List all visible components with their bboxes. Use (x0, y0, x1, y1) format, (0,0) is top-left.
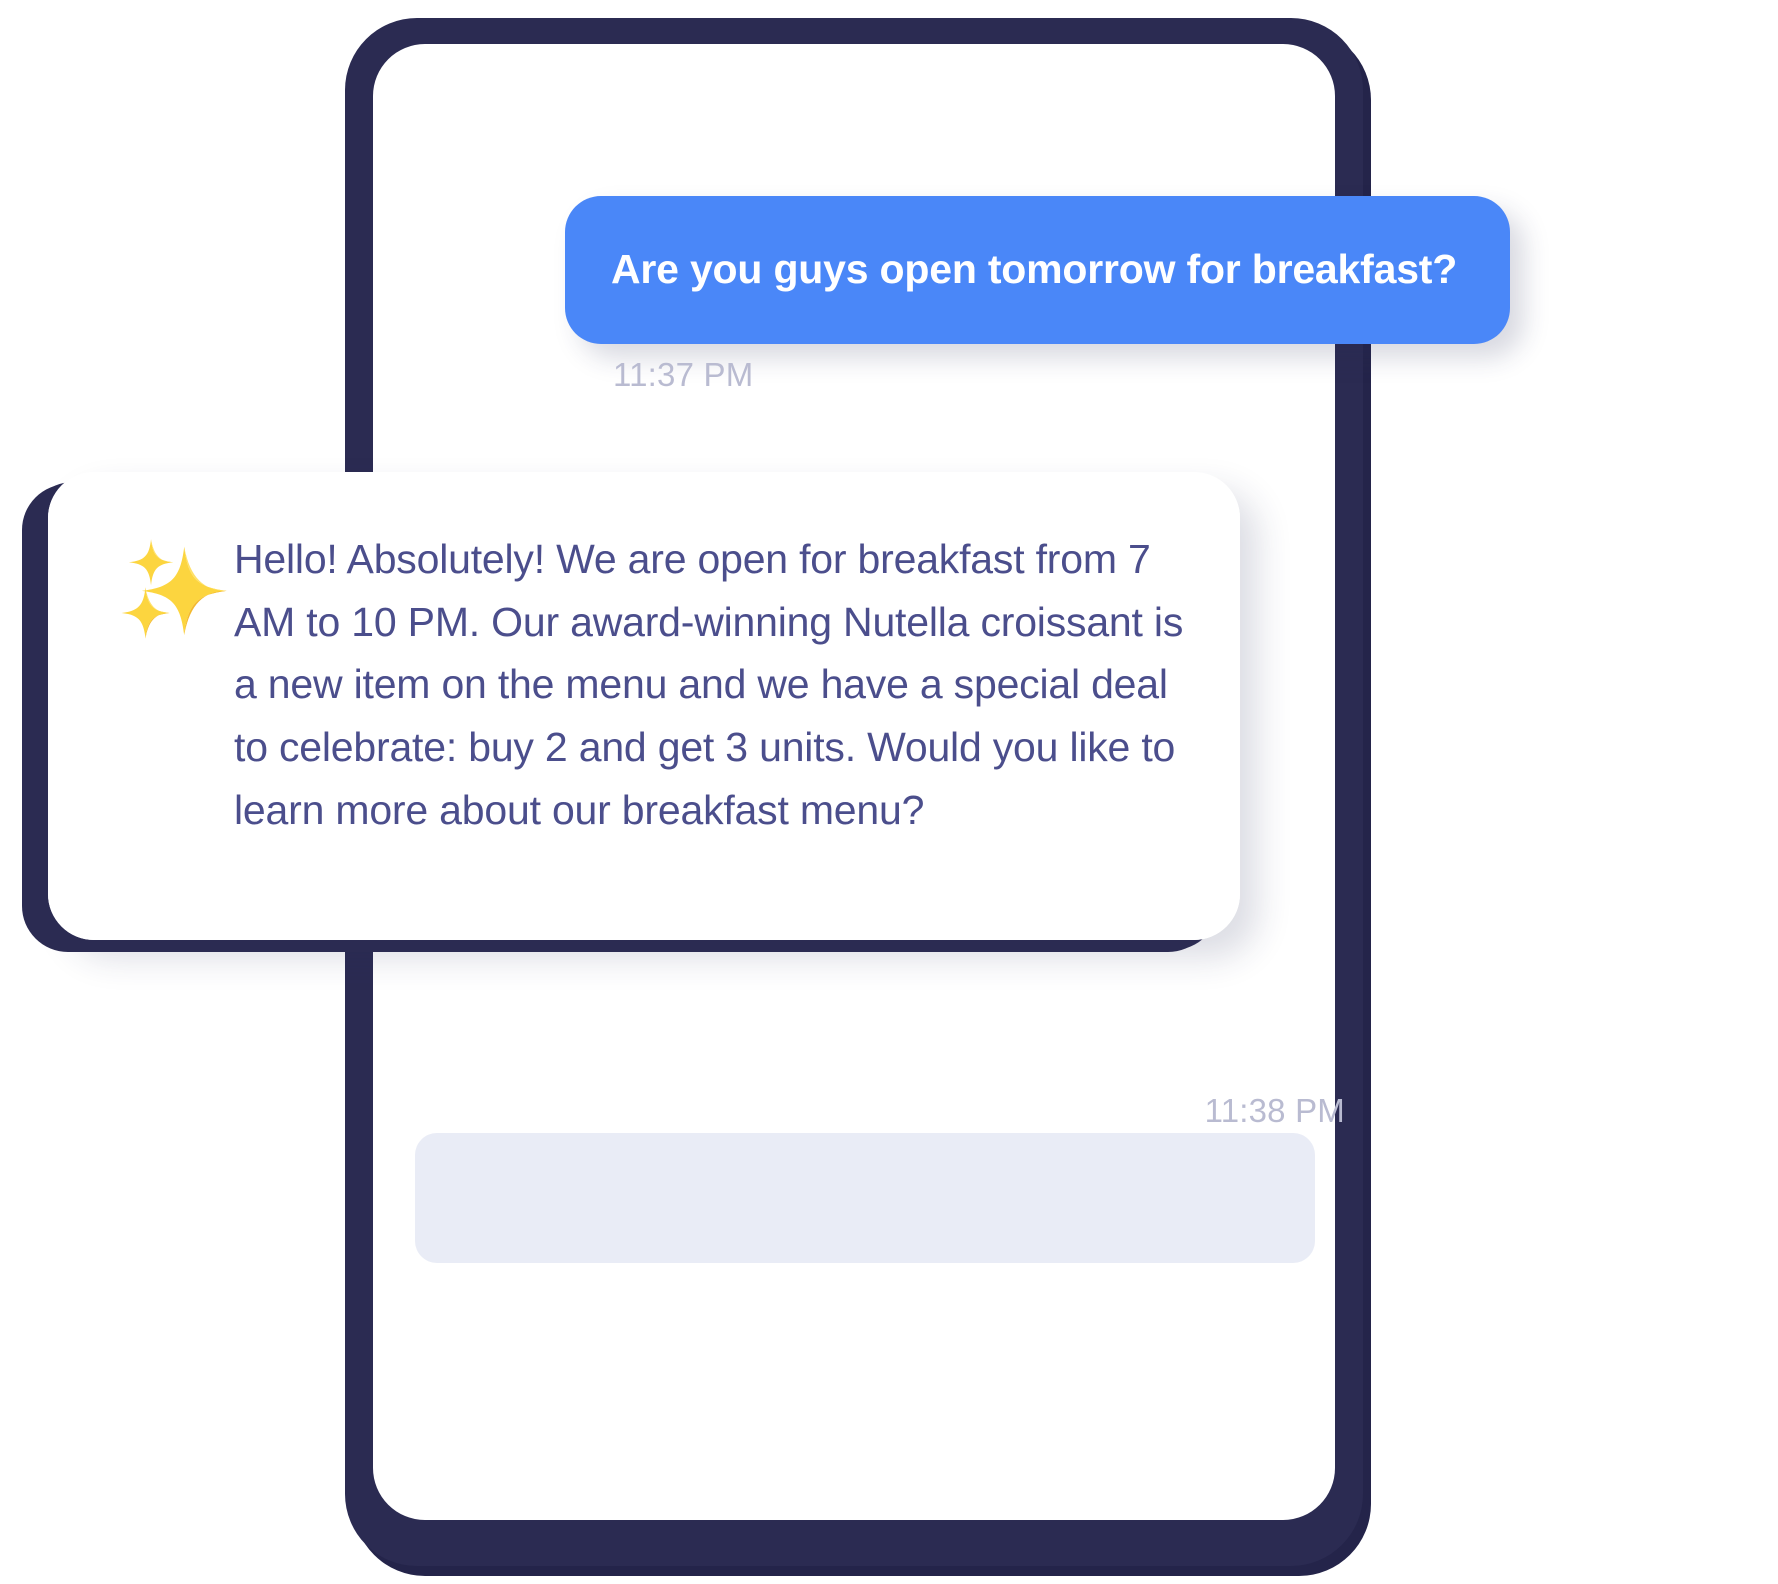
message-timestamp-incoming: 11:38 PM (1045, 1092, 1345, 1130)
message-incoming[interactable]: Hello! Absolutely! We are open for break… (48, 472, 1240, 940)
message-text-outgoing: Are you guys open tomorrow for breakfast… (611, 244, 1457, 295)
message-input[interactable] (415, 1133, 1315, 1263)
message-bubble-incoming[interactable]: Hello! Absolutely! We are open for break… (48, 472, 1240, 940)
sparkles-icon (116, 530, 234, 648)
message-outgoing[interactable]: Are you guys open tomorrow for breakfast… (565, 196, 1510, 344)
message-text-incoming: Hello! Absolutely! We are open for break… (234, 526, 1188, 842)
message-timestamp-outgoing: 11:37 PM (613, 356, 753, 394)
message-composer[interactable] (415, 1133, 1315, 1263)
message-bubble-outgoing[interactable]: Are you guys open tomorrow for breakfast… (565, 196, 1510, 344)
